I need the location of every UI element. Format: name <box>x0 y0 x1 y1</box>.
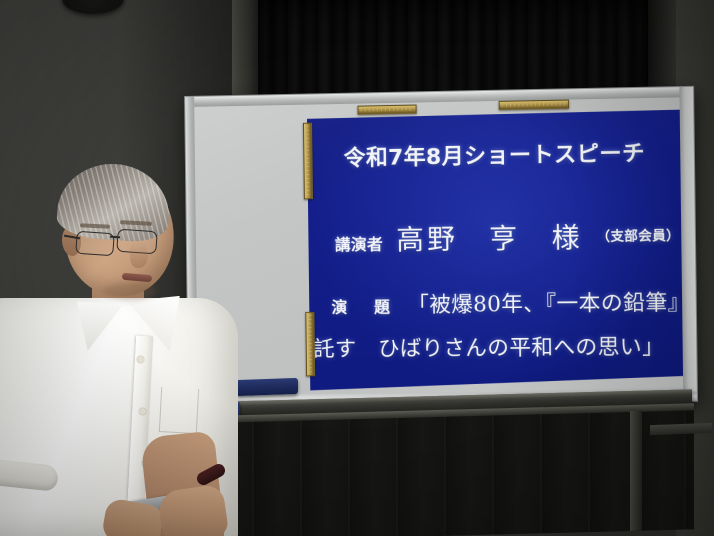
under-shelf-unit <box>180 403 694 536</box>
projected-slide: 令和7年8月ショートスピーチ 講演者 高野 亨 様 （支部会員） 演 題 「被爆… <box>307 110 685 391</box>
whiteboard-surface: 令和7年8月ショートスピーチ 講演者 高野 亨 様 （支部会員） 演 題 「被爆… <box>194 97 683 394</box>
hair <box>55 160 172 244</box>
magnet-strip-top-left <box>357 105 416 115</box>
speaker-name: 高野 亨 様 <box>396 216 583 258</box>
speaker-affiliation: （支部会員） <box>596 224 680 244</box>
magnet-strip-left-lower <box>305 312 315 376</box>
whiteboard-frame-right <box>679 87 697 401</box>
slide-topic-line-1: 演 題 「被爆80年、『一本の鉛筆』に <box>331 286 678 320</box>
nose <box>130 242 148 268</box>
photo-scene: 令和7年8月ショートスピーチ 講演者 高野 亨 様 （支部会員） 演 題 「被爆… <box>0 0 714 536</box>
topic-label: 演 題 <box>331 295 395 318</box>
glasses-lens-left <box>75 231 115 257</box>
speaker-label: 講演者 <box>335 232 384 255</box>
shelf-post-right <box>630 411 642 531</box>
magnet-strip-top-right <box>499 100 569 111</box>
speaker-presenter <box>0 150 250 536</box>
slide-text-block: 令和7年8月ショートスピーチ 講演者 高野 亨 様 （支部会員） 演 題 「被爆… <box>307 110 685 391</box>
slide-title: 令和7年8月ショートスピーチ <box>307 135 682 173</box>
shirt-button <box>137 356 144 363</box>
chin-shadow <box>104 282 156 300</box>
topic-text-line2: 託す ひばりさんの平和への思い」 <box>310 330 669 363</box>
shirt-button <box>139 408 146 415</box>
magnet-strip-left-upper <box>303 123 313 200</box>
shirt-pocket <box>159 387 199 434</box>
topic-text-line1: 「被爆80年、『一本の鉛筆』に <box>407 286 712 319</box>
whiteboard: 令和7年8月ショートスピーチ 講演者 高野 亨 様 （支部会員） 演 題 「被爆… <box>184 86 698 404</box>
slide-speaker-line: 講演者 高野 亨 様 （支部会員） <box>335 214 676 258</box>
